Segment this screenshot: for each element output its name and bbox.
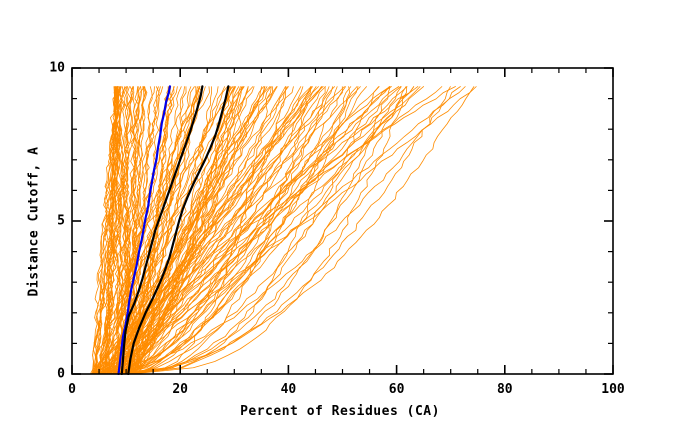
x-tick-label: 80 [497,382,513,397]
x-tick-label: 100 [601,382,624,397]
y-tick-label: 5 [57,214,65,229]
x-tick-label: 20 [172,382,188,397]
chart-root: T0990-D2 0204060801000510 Percent of Res… [0,0,680,440]
y-axis-title: Distance Cutoff, A [27,102,42,342]
ensemble-curves [90,86,476,374]
plot-canvas [0,0,680,440]
x-tick-label: 40 [281,382,297,397]
x-tick-label: 60 [389,382,405,397]
y-tick-label: 0 [57,367,65,382]
y-tick-label: 10 [49,61,65,76]
x-tick-label: 0 [68,382,76,397]
x-axis-title: Percent of Residues (CA) [0,404,680,419]
